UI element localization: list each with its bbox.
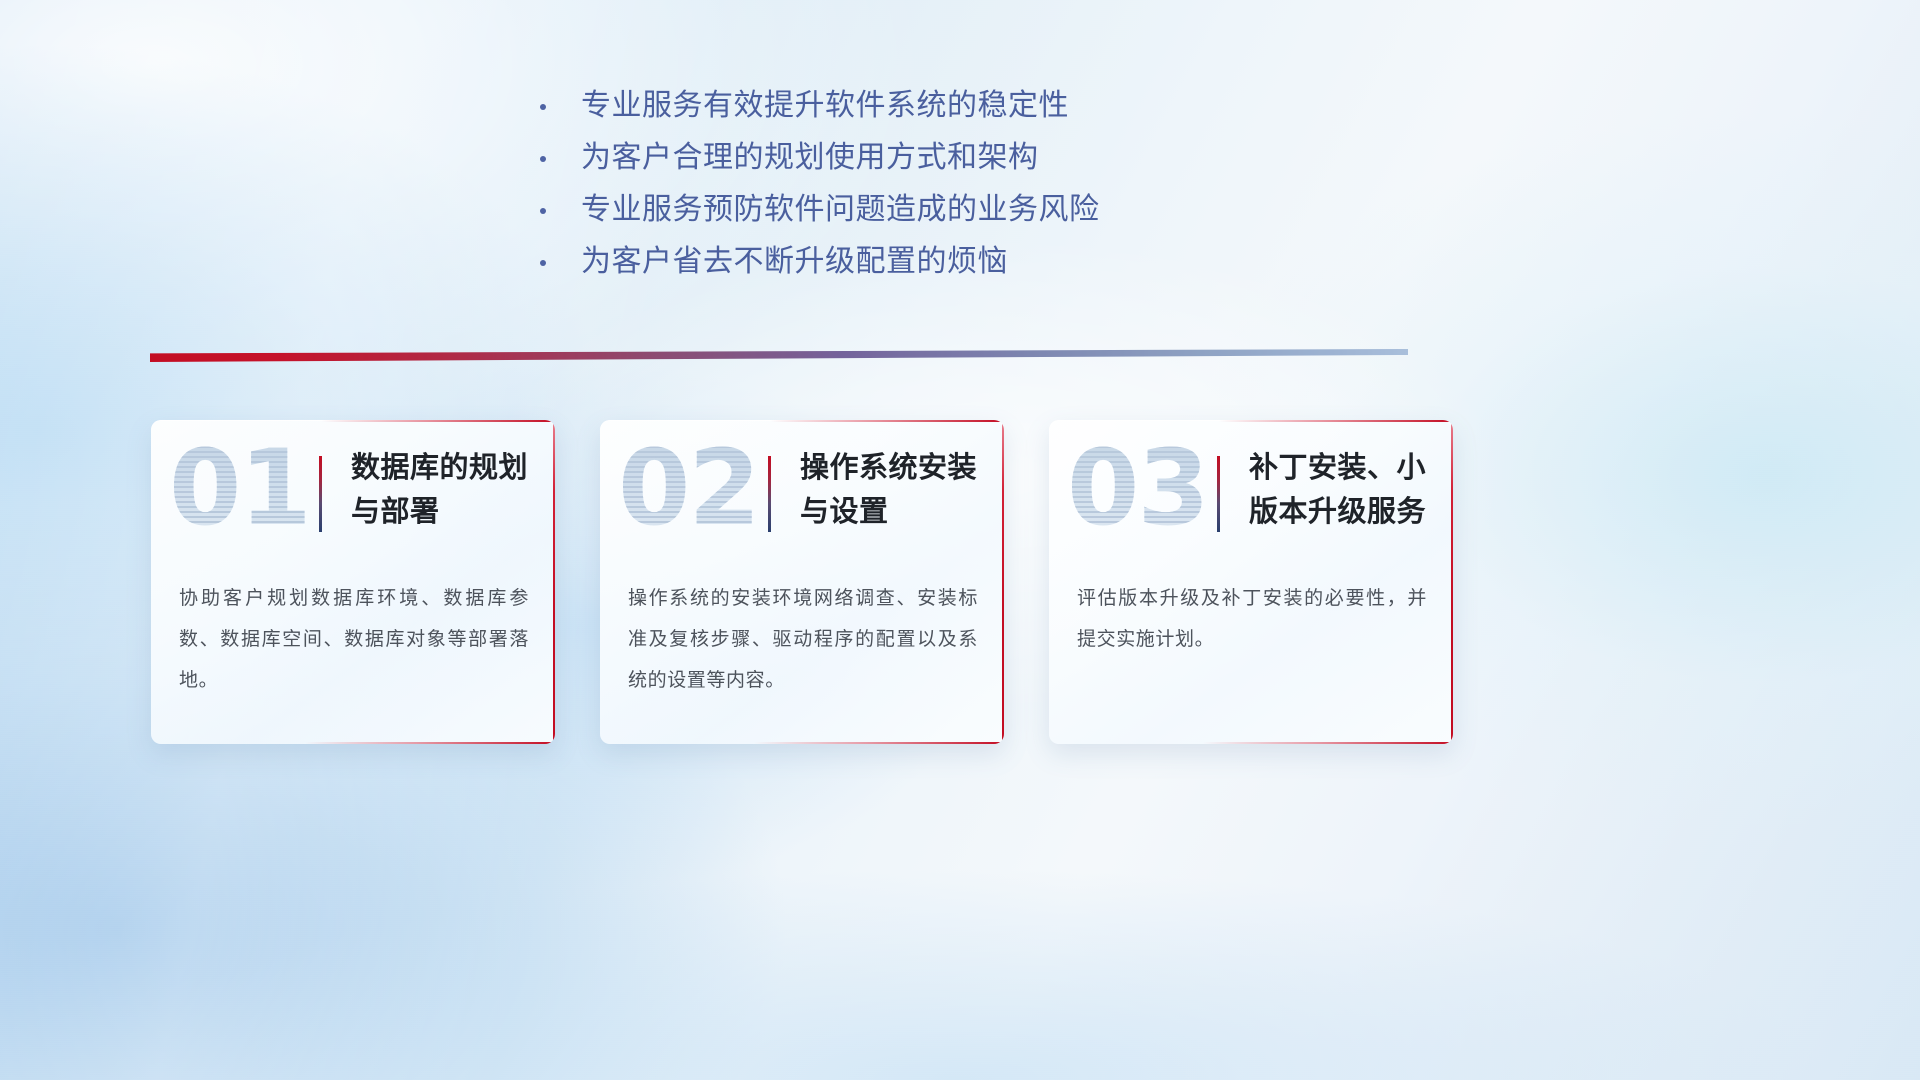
card-number-watermark: 01	[169, 436, 310, 540]
bullet-text: 专业服务有效提升软件系统的稳定性	[581, 86, 1069, 126]
divider-gradient-bar	[150, 349, 1408, 362]
card-description: 协助客户规划数据库环境、数据库参数、数据库空间、数据库对象等部署落地。	[179, 578, 529, 701]
card-bottom-accent-line	[754, 742, 1004, 744]
list-item: 为客户省去不断升级配置的烦恼	[540, 242, 1300, 294]
service-card-02[interactable]: 02 操作系统安装与设置 操作系统的安装环境网络调查、安装标准及复核步骤、驱动程…	[600, 420, 1004, 744]
service-card-03[interactable]: 03 补丁安装、小版本升级服务 评估版本升级及补丁安装的必要性，并提交实施计划。	[1049, 420, 1453, 744]
card-description: 操作系统的安装环境网络调查、安装标准及复核步骤、驱动程序的配置以及系统的设置等内…	[628, 578, 978, 701]
bullet-dot-icon	[540, 208, 546, 214]
list-item: 专业服务预防软件问题造成的业务风险	[540, 190, 1300, 242]
card-title-divider-bar	[1217, 456, 1220, 532]
card-title: 操作系统安装与设置	[800, 446, 990, 534]
card-title-divider-bar	[319, 456, 322, 532]
bullet-dot-icon	[540, 156, 546, 162]
card-title-divider-bar	[768, 456, 771, 532]
bullet-text: 专业服务预防软件问题造成的业务风险	[581, 190, 1100, 230]
bullet-text: 为客户省去不断升级配置的烦恼	[581, 242, 1008, 282]
card-number-watermark: 03	[1067, 436, 1208, 540]
card-header: 03 补丁安装、小版本升级服务	[1049, 420, 1453, 570]
card-title: 补丁安装、小版本升级服务	[1249, 446, 1439, 534]
card-bottom-accent-line	[305, 742, 555, 744]
service-card-group: 01 数据库的规划与部署 协助客户规划数据库环境、数据库参数、数据库空间、数据库…	[151, 420, 1453, 744]
bullet-dot-icon	[540, 260, 546, 266]
card-number-watermark: 02	[618, 436, 759, 540]
service-card-01[interactable]: 01 数据库的规划与部署 协助客户规划数据库环境、数据库参数、数据库空间、数据库…	[151, 420, 555, 744]
benefits-bullet-list: 专业服务有效提升软件系统的稳定性 为客户合理的规划使用方式和架构 专业服务预防软…	[540, 86, 1300, 294]
list-item: 为客户合理的规划使用方式和架构	[540, 138, 1300, 190]
bullet-text: 为客户合理的规划使用方式和架构	[581, 138, 1039, 178]
card-header: 02 操作系统安装与设置	[600, 420, 1004, 570]
card-header: 01 数据库的规划与部署	[151, 420, 555, 570]
list-item: 专业服务有效提升软件系统的稳定性	[540, 86, 1300, 138]
section-divider	[150, 349, 1408, 362]
card-bottom-accent-line	[1203, 742, 1453, 744]
card-description: 评估版本升级及补丁安装的必要性，并提交实施计划。	[1077, 578, 1427, 660]
bullet-dot-icon	[540, 104, 546, 110]
card-title: 数据库的规划与部署	[351, 446, 541, 534]
